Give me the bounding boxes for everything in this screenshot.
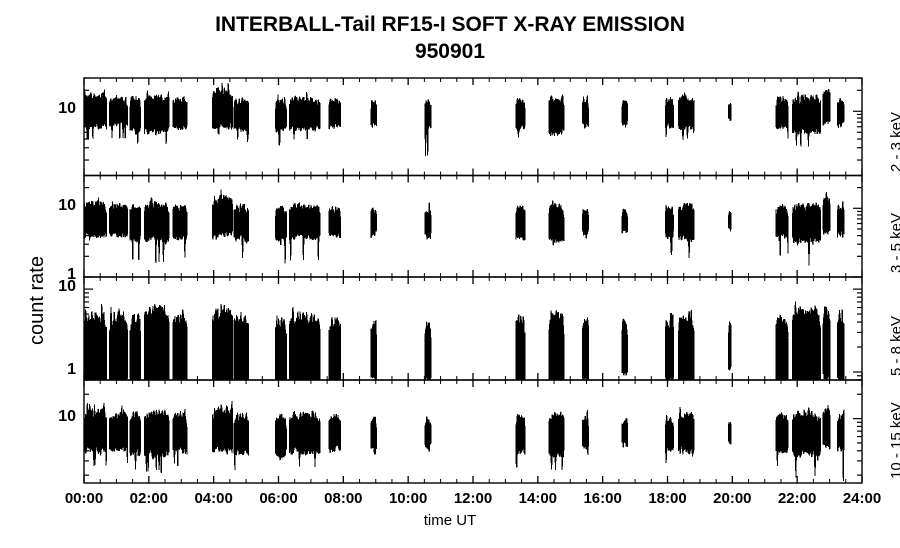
x-tick-label-1400: 14:00 <box>508 490 568 507</box>
panel-3 <box>84 277 862 380</box>
y-tick-label-panel4-10: 10 <box>50 408 76 426</box>
y-tick-label-panel3-1: 1 <box>50 361 76 379</box>
panel-3-data <box>84 302 844 380</box>
x-tick-label-1000: 10:00 <box>378 490 438 507</box>
y-tick-label-panel1-10: 10 <box>50 100 76 118</box>
panel-2-data <box>84 190 844 266</box>
band-label-4: 10 - 15 keV <box>888 402 900 479</box>
x-tick-label-2400: 24:00 <box>832 490 892 507</box>
x-tick-label-0800: 08:00 <box>313 490 373 507</box>
panel-4-data <box>84 401 844 481</box>
x-tick-label-0600: 06:00 <box>249 490 309 507</box>
y-tick-label-panel2-10: 10 <box>50 197 76 215</box>
figure: INTERBALL-Tail RF15-I SOFT X-RAY EMISSIO… <box>0 0 900 548</box>
x-tick-label-0000: 00:00 <box>54 490 114 507</box>
panel-1-data <box>84 83 844 156</box>
x-tick-label-2200: 22:00 <box>767 490 827 507</box>
band-label-3: 5 - 8 keV <box>888 316 900 376</box>
x-tick-label-1600: 16:00 <box>573 490 633 507</box>
band-label-2: 3 - 5 keV <box>888 213 900 273</box>
y-tick-label-panel3-10: 10 <box>50 278 76 296</box>
x-tick-label-0200: 02:00 <box>119 490 179 507</box>
x-tick-label-2000: 20:00 <box>702 490 762 507</box>
band-label-1: 2 - 3 keV <box>888 111 900 171</box>
x-tick-label-0400: 04:00 <box>184 490 244 507</box>
plot-canvas <box>0 0 900 548</box>
x-tick-label-1200: 12:00 <box>443 490 503 507</box>
panel-1 <box>84 78 862 176</box>
panel-4 <box>84 380 862 483</box>
x-tick-label-1800: 18:00 <box>638 490 698 507</box>
panel-2 <box>84 176 862 278</box>
